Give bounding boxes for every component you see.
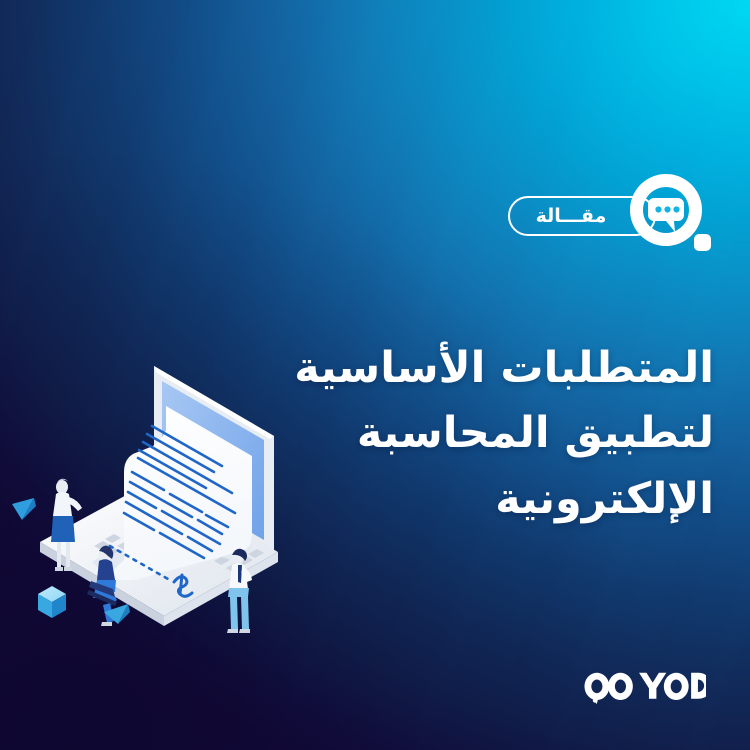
- page-title: المتطلبات الأساسية لتطبيق المحاسبة الإلك…: [154, 336, 714, 532]
- headline-line-3: الإلكترونية: [154, 467, 714, 532]
- cone-shape-left: [12, 498, 36, 520]
- isometric-cube: [38, 586, 66, 618]
- speech-bubble-circle-icon: [622, 170, 714, 262]
- headline-line-2: لتطبيق المحاسبة: [154, 401, 714, 466]
- headline-line-1: المتطلبات الأساسية: [154, 336, 714, 401]
- brand-logo-qoyod: [582, 670, 706, 704]
- poster-canvas: مقـــالة المتطلبات الأساسية لتطبيق المحا…: [0, 0, 750, 750]
- article-badge-row: مقـــالة: [508, 168, 714, 264]
